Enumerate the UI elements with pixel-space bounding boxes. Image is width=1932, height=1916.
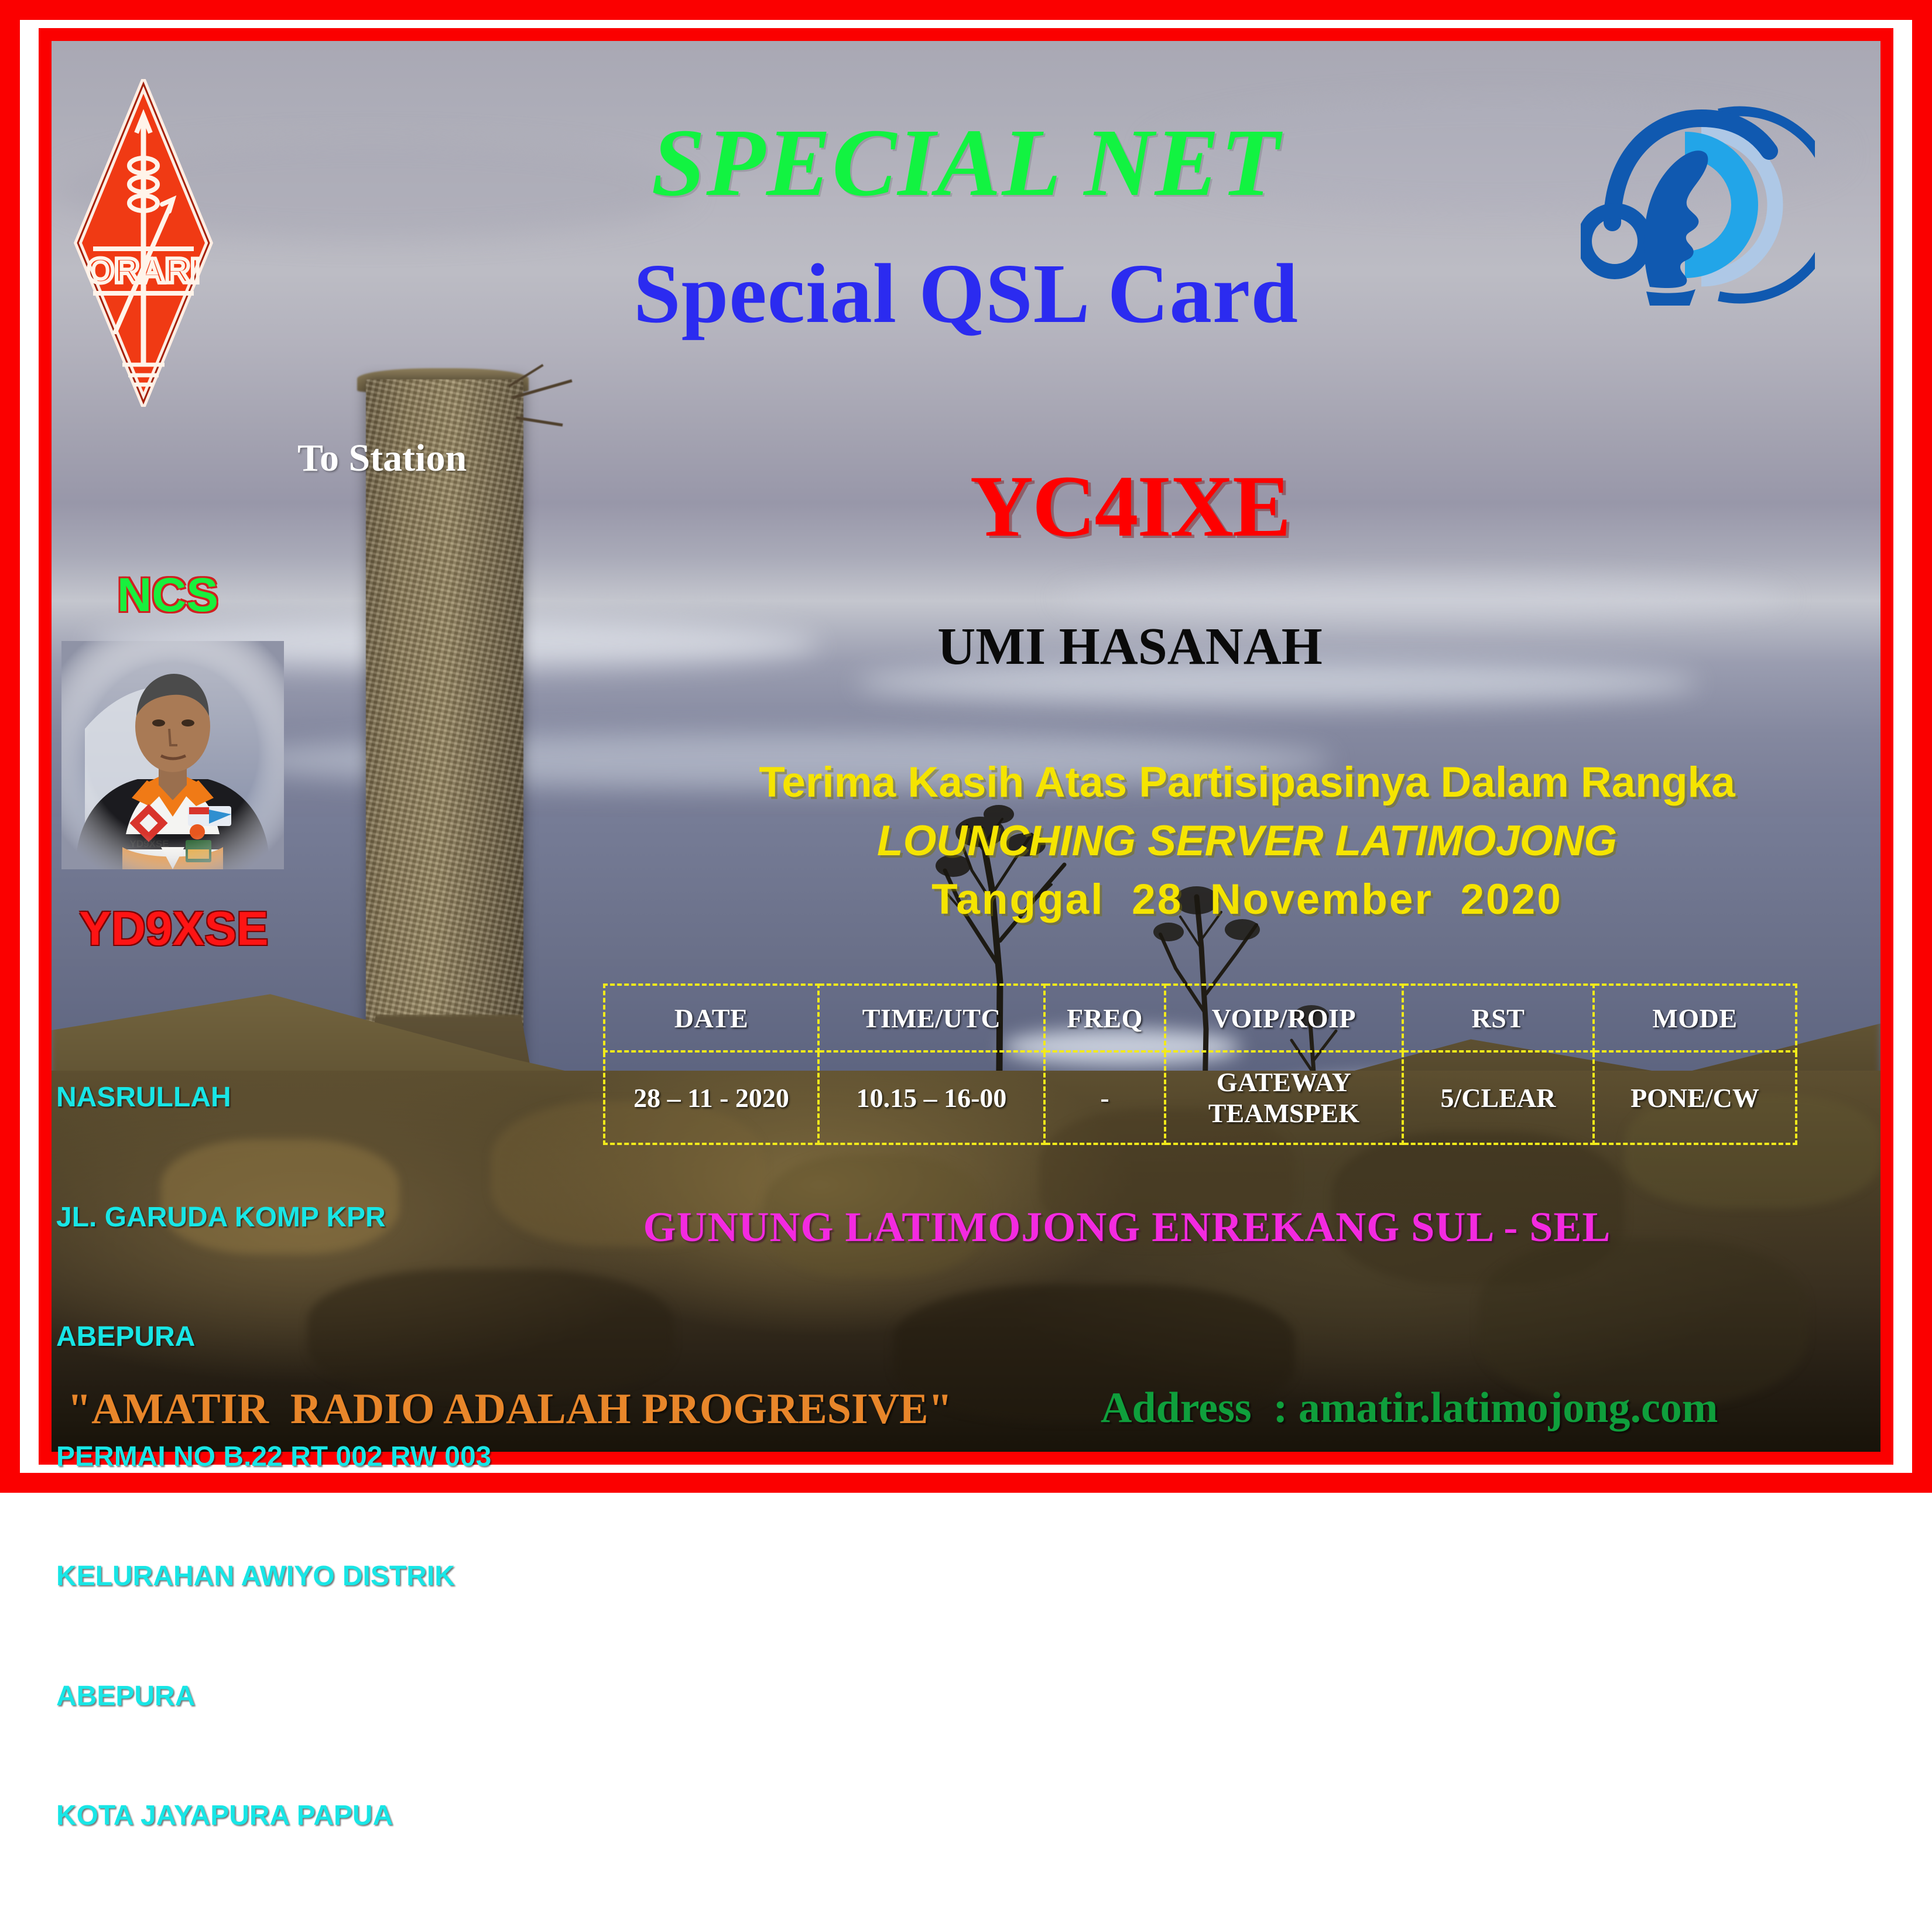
cell-time: 10.15 – 16-00 <box>818 1051 1044 1144</box>
column-header-time: TIME/UTC <box>818 985 1044 1051</box>
qsl-card: ORARI SPECIAL NET <box>0 0 1932 1493</box>
table-row: 28 – 11 - 2020 10.15 – 16-00 - GATEWAY T… <box>604 1051 1796 1144</box>
footer-website: Address : amatir.latimojong.com <box>1101 1386 1718 1430</box>
cell-freq: - <box>1044 1051 1165 1144</box>
page-title: SPECIAL NET <box>0 114 1932 211</box>
address-line: ABEPURA <box>56 1677 491 1716</box>
station-callsign: YC4IXE <box>808 462 1452 550</box>
column-header-voip: VOIP/ROIP <box>1165 985 1403 1051</box>
table-header-row: DATE TIME/UTC FREQ VOIP/ROIP RST MODE <box>604 985 1796 1051</box>
qso-table: DATE TIME/UTC FREQ VOIP/ROIP RST MODE 28… <box>603 983 1797 1145</box>
column-header-freq: FREQ <box>1044 985 1165 1051</box>
to-station-label: To Station <box>297 436 467 481</box>
address-line: KOTA JAYAPURA PAPUA <box>56 1796 491 1836</box>
column-header-date: DATE <box>604 985 818 1051</box>
page-subtitle: Special QSL Card <box>0 252 1932 337</box>
ncs-label: NCS <box>117 568 218 623</box>
event-date-line: Tanggal 28 November 2020 <box>679 878 1815 921</box>
column-header-rst: RST <box>1403 985 1594 1051</box>
cell-rst: 5/CLEAR <box>1403 1051 1594 1144</box>
cell-mode: PONE/CW <box>1594 1051 1796 1144</box>
event-thanks-line: Terima Kasih Atas Partisipasinya Dalam R… <box>679 761 1815 804</box>
address-line: KELURAHAN AWIYO DISTRIK <box>56 1557 491 1596</box>
operator-name: UMI HASANAH <box>749 621 1510 673</box>
ncs-operator-photo: YD9XSE <box>61 641 284 869</box>
address-block: NASRULLAH JL. GARUDA KOMP KPR ABEPURA PE… <box>56 998 491 1916</box>
address-line: ABEPURA <box>56 1317 491 1357</box>
cell-voip: GATEWAY TEAMSPEK <box>1165 1051 1403 1144</box>
cell-date: 28 – 11 - 2020 <box>604 1051 818 1144</box>
ncs-callsign: YD9XSE <box>79 902 269 957</box>
venue-label: GUNUNG LATIMOJONG ENREKANG SUL - SEL <box>556 1206 1698 1248</box>
address-line: JL. GARUDA KOMP KPR <box>56 1198 491 1238</box>
address-line: PERMAI NO B.22 RT 002 RW 003 <box>56 1437 491 1477</box>
address-line: NASRULLAH <box>56 1078 491 1118</box>
footer-motto: "AMATIR RADIO ADALAH PROGRESIVE" <box>67 1387 953 1431</box>
rock <box>1478 1239 1807 1406</box>
event-launch-line: LOUNCHING SERVER LATIMOJONG <box>679 820 1815 862</box>
column-header-mode: MODE <box>1594 985 1796 1051</box>
